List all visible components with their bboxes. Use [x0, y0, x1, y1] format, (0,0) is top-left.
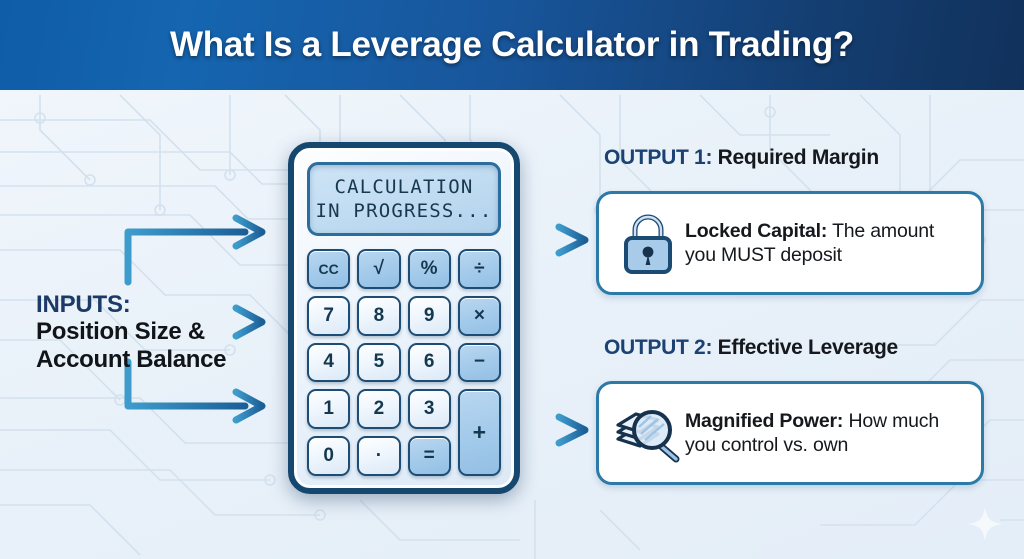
sparkle-icon [968, 507, 1002, 541]
calc-key-3[interactable]: 3 [408, 389, 451, 429]
calc-key-·[interactable]: · [357, 436, 400, 476]
inputs-block: INPUTS: Position Size & Account Balance [36, 292, 276, 375]
page-title: What Is a Leverage Calculator in Trading… [170, 25, 854, 65]
calc-key-0[interactable]: 0 [307, 436, 350, 476]
output-2-text-bold: Magnified Power: [685, 410, 843, 432]
output-1-heading-rest: Required Margin [712, 146, 879, 169]
display-line-2: IN PROGRESS... [316, 199, 493, 223]
output-1-heading: OUTPUT 1: Required Margin [604, 146, 879, 170]
calc-key-×[interactable]: × [458, 296, 501, 336]
calc-key-÷[interactable]: ÷ [458, 249, 501, 289]
output-1-text-bold: Locked Capital: [685, 220, 827, 242]
calc-key-=[interactable]: = [408, 436, 451, 476]
calc-key-√[interactable]: √ [357, 249, 400, 289]
calculator-keypad[interactable]: CC√%÷789×456−123+0·= [307, 249, 501, 476]
output-2-heading: OUTPUT 2: Effective Leverage [604, 336, 898, 360]
calc-key-5[interactable]: 5 [357, 343, 400, 383]
calc-key-4[interactable]: 4 [307, 343, 350, 383]
output-2-heading-rest: Effective Leverage [712, 336, 898, 359]
header-banner: What Is a Leverage Calculator in Trading… [0, 0, 1024, 90]
calc-key-2[interactable]: 2 [357, 389, 400, 429]
magnifier-money-icon [611, 401, 685, 465]
inputs-label: INPUTS: [36, 292, 276, 318]
calc-key-%[interactable]: % [408, 249, 451, 289]
output-1-box[interactable]: Locked Capital: The amount you MUST depo… [596, 191, 984, 295]
padlock-icon [611, 209, 685, 277]
display-line-1: CALCULATION [334, 175, 473, 199]
calc-key-7[interactable]: 7 [307, 296, 350, 336]
inputs-line-2: Account Balance [36, 346, 276, 374]
calculator-graphic[interactable]: CALCULATION IN PROGRESS... CC√%÷789×456−… [288, 142, 520, 494]
output-1-text: Locked Capital: The amount you MUST depo… [685, 219, 965, 267]
calc-key-8[interactable]: 8 [357, 296, 400, 336]
calc-key-CC[interactable]: CC [307, 249, 350, 289]
inputs-line-1: Position Size & [36, 318, 276, 346]
output-2-text: Magnified Power: How much you control vs… [685, 409, 965, 457]
calc-key-1[interactable]: 1 [307, 389, 350, 429]
infographic-canvas: What Is a Leverage Calculator in Trading… [0, 0, 1024, 559]
calc-key-+[interactable]: + [458, 389, 501, 476]
output-2-box[interactable]: Magnified Power: How much you control vs… [596, 381, 984, 485]
output-2-heading-lead: OUTPUT 2: [604, 336, 712, 359]
output-1-heading-lead: OUTPUT 1: [604, 146, 712, 169]
calculator-display: CALCULATION IN PROGRESS... [307, 162, 501, 236]
calc-key-−[interactable]: − [458, 343, 501, 383]
calc-key-9[interactable]: 9 [408, 296, 451, 336]
calc-key-6[interactable]: 6 [408, 343, 451, 383]
